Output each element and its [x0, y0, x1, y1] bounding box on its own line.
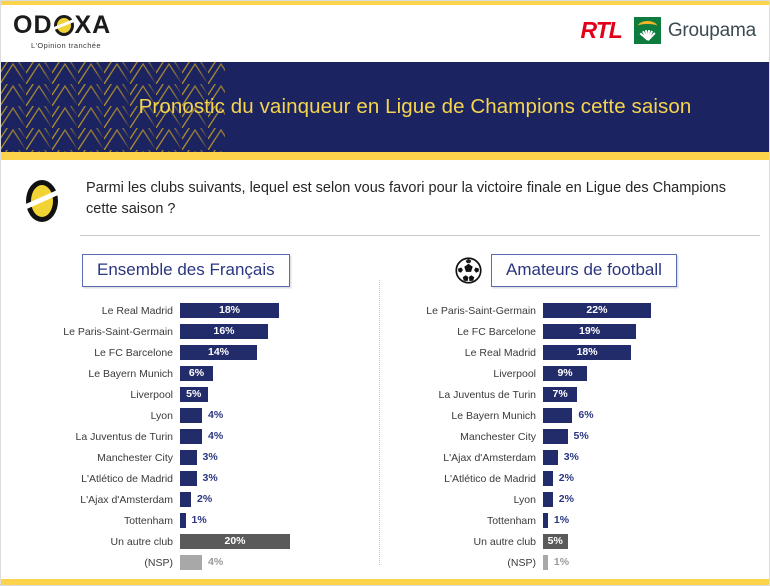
bar-category-label: Lyon — [0, 410, 180, 422]
bar-value-label: 7% — [543, 387, 577, 402]
groupama-mark-icon — [634, 17, 661, 44]
odoxa-wordmark: OD XA — [13, 13, 111, 38]
chart-bar-row: Tottenham1% — [381, 510, 770, 531]
bar-track: 3% — [180, 471, 379, 486]
bar-value-label: 18% — [180, 303, 279, 318]
bar-category-label: La Juventus de Turin — [0, 431, 180, 443]
bar-fill — [180, 429, 202, 444]
bar-value-label: 16% — [180, 324, 268, 339]
bar-category-label: Liverpool — [381, 368, 543, 380]
chart-bar-row: Lyon2% — [381, 489, 770, 510]
bar-value-label: 3% — [203, 471, 218, 486]
bar-fill — [543, 492, 553, 507]
bar-fill — [543, 513, 548, 528]
bar-value-label: 2% — [559, 471, 574, 486]
bar-track: 19% — [543, 324, 770, 339]
panel-amateurs-football: Amateurs de football Le Paris-Saint-Germ… — [381, 250, 770, 573]
odoxa-logo: OD XA L'Opinion tranchée — [13, 13, 111, 50]
chart-bar-row: Le Bayern Munich6% — [0, 363, 379, 384]
bar-value-label: 5% — [543, 534, 568, 549]
bar-fill — [543, 429, 568, 444]
bar-category-label: Le FC Barcelone — [0, 347, 180, 359]
chart-bar-row: Liverpool5% — [0, 384, 379, 405]
bar-track: 5% — [543, 429, 770, 444]
bar-track: 16% — [180, 324, 379, 339]
bar-track: 1% — [543, 513, 770, 528]
chart-bar-row: L'Atlético de Madrid3% — [0, 468, 379, 489]
bar-category-label: Liverpool — [0, 389, 180, 401]
bar-track: 18% — [543, 345, 770, 360]
bar-fill — [543, 408, 572, 423]
bar-category-label: Un autre club — [0, 536, 180, 548]
bar-track: 1% — [543, 555, 770, 570]
bar-fill — [543, 471, 553, 486]
chart-bar-row: (NSP)4% — [0, 552, 379, 573]
bar-value-label: 18% — [543, 345, 631, 360]
bar-value-label: 4% — [208, 429, 223, 444]
bar-fill — [180, 513, 186, 528]
bottom-gold-strip — [0, 579, 770, 586]
chart-bar-row: Le Real Madrid18% — [381, 342, 770, 363]
bar-fill — [180, 471, 197, 486]
banner-gold-strip — [0, 152, 770, 160]
groupama-label: Groupama — [668, 20, 756, 42]
bar-category-label: Manchester City — [0, 452, 180, 464]
bar-value-label: 2% — [197, 492, 212, 507]
bar-value-label: 4% — [208, 408, 223, 423]
chart-right-rows: Le Paris-Saint-Germain22%Le FC Barcelone… — [381, 300, 770, 573]
bar-category-label: L'Ajax d'Amsterdam — [0, 494, 180, 506]
panel-left-header: Ensemble des Français — [0, 250, 379, 290]
bar-value-label: 22% — [543, 303, 651, 318]
question-row: Parmi les clubs suivants, lequel est sel… — [0, 178, 770, 236]
panel-right-header: Amateurs de football — [381, 250, 770, 290]
partner-logos: RTL Groupama — [581, 17, 756, 44]
bar-category-label: Tottenham — [381, 515, 543, 527]
bar-track: 1% — [180, 513, 379, 528]
bar-category-label: (NSP) — [381, 557, 543, 569]
bar-category-label: La Juventus de Turin — [381, 389, 543, 401]
bar-category-label: Manchester City — [381, 431, 543, 443]
bar-category-label: L'Atlético de Madrid — [0, 473, 180, 485]
odoxa-o-mark-icon — [54, 15, 74, 36]
odoxa-tagline: L'Opinion tranchée — [31, 41, 101, 50]
bar-value-label: 5% — [574, 429, 589, 444]
bar-fill — [180, 492, 191, 507]
bar-track: 4% — [180, 408, 379, 423]
bar-value-label: 6% — [180, 366, 213, 381]
bar-value-label: 1% — [554, 555, 569, 570]
bar-track: 5% — [180, 387, 379, 402]
odoxa-logo-text-right: XA — [75, 13, 112, 38]
bar-fill — [543, 450, 558, 465]
bar-category-label: Un autre club — [381, 536, 543, 548]
chart-bar-row: La Juventus de Turin4% — [0, 426, 379, 447]
chart-bar-row: Le Real Madrid18% — [0, 300, 379, 321]
bar-fill — [180, 555, 202, 570]
banner-title: Pronostic du vainqueur en Ligue de Champ… — [0, 62, 770, 152]
bar-track: 3% — [180, 450, 379, 465]
bar-category-label: Le Bayern Munich — [381, 410, 543, 422]
bar-fill — [543, 555, 548, 570]
panel-divider — [379, 280, 380, 565]
bar-value-label: 6% — [578, 408, 593, 423]
chart-bar-row: L'Atlético de Madrid2% — [381, 468, 770, 489]
bar-value-label: 20% — [180, 534, 290, 549]
chart-bar-row: Le Bayern Munich6% — [381, 405, 770, 426]
chart-bar-row: Le FC Barcelone14% — [0, 342, 379, 363]
bar-value-label: 19% — [543, 324, 636, 339]
bar-category-label: Lyon — [381, 494, 543, 506]
bar-category-label: Le Real Madrid — [381, 347, 543, 359]
bar-value-label: 5% — [180, 387, 208, 402]
panel-left-title: Ensemble des Français — [82, 254, 290, 287]
bar-track: 2% — [543, 492, 770, 507]
chart-bar-row: Un autre club20% — [0, 531, 379, 552]
odoxa-logo-text-left: OD — [13, 13, 53, 38]
poll-infographic-page: OD XA L'Opinion tranchée RTL — [0, 0, 770, 586]
bar-track: 22% — [543, 303, 770, 318]
chart-bar-row: Liverpool9% — [381, 363, 770, 384]
chart-bar-row: L'Ajax d'Amsterdam2% — [0, 489, 379, 510]
header-bar: OD XA L'Opinion tranchée RTL — [0, 5, 770, 58]
groupama-logo: Groupama — [634, 17, 756, 44]
question-divider — [80, 235, 760, 236]
chart-bar-row: Lyon4% — [0, 405, 379, 426]
bar-value-label: 2% — [559, 492, 574, 507]
title-banner: Pronostic du vainqueur en Ligue de Champ… — [0, 62, 770, 152]
question-text: Parmi les clubs suivants, lequel est sel… — [86, 178, 746, 220]
bar-track: 6% — [180, 366, 379, 381]
bar-value-label: 3% — [203, 450, 218, 465]
chart-bar-row: Manchester City5% — [381, 426, 770, 447]
bar-track: 20% — [180, 534, 379, 549]
chart-bar-row: (NSP)1% — [381, 552, 770, 573]
rtl-logo: RTL — [581, 17, 622, 44]
bar-category-label: L'Ajax d'Amsterdam — [381, 452, 543, 464]
bar-track: 14% — [180, 345, 379, 360]
chart-bar-row: Le Paris-Saint-Germain16% — [0, 321, 379, 342]
bar-category-label: Le Bayern Munich — [0, 368, 180, 380]
bar-track: 4% — [180, 429, 379, 444]
chart-bar-row: Un autre club5% — [381, 531, 770, 552]
bar-value-label: 14% — [180, 345, 257, 360]
chart-bar-row: La Juventus de Turin7% — [381, 384, 770, 405]
bar-track: 18% — [180, 303, 379, 318]
bar-category-label: Le Paris-Saint-Germain — [381, 305, 543, 317]
bar-category-label: Tottenham — [0, 515, 180, 527]
bar-category-label: (NSP) — [0, 557, 180, 569]
panel-ensemble-francais: Ensemble des Français Le Real Madrid18%L… — [0, 250, 379, 573]
bar-category-label: Le Real Madrid — [0, 305, 180, 317]
bar-track: 3% — [543, 450, 770, 465]
bar-value-label: 1% — [554, 513, 569, 528]
bar-category-label: Le Paris-Saint-Germain — [0, 326, 180, 338]
soccer-ball-icon — [455, 257, 482, 284]
bar-fill — [180, 408, 202, 423]
bar-category-label: L'Atlético de Madrid — [381, 473, 543, 485]
bar-fill — [180, 450, 197, 465]
bar-category-label: Le FC Barcelone — [381, 326, 543, 338]
bar-value-label: 9% — [543, 366, 587, 381]
bar-track: 7% — [543, 387, 770, 402]
bar-value-label: 3% — [564, 450, 579, 465]
bar-track: 6% — [543, 408, 770, 423]
bar-track: 2% — [543, 471, 770, 486]
chart-bar-row: Tottenham1% — [0, 510, 379, 531]
bar-track: 4% — [180, 555, 379, 570]
odoxa-bullet-icon — [26, 180, 58, 222]
bar-track: 2% — [180, 492, 379, 507]
chart-bar-row: Manchester City3% — [0, 447, 379, 468]
bar-track: 9% — [543, 366, 770, 381]
bar-value-label: 4% — [208, 555, 223, 570]
panel-right-title: Amateurs de football — [491, 254, 677, 287]
bar-track: 5% — [543, 534, 770, 549]
chart-left-rows: Le Real Madrid18%Le Paris-Saint-Germain1… — [0, 300, 379, 573]
bar-value-label: 1% — [192, 513, 207, 528]
chart-bar-row: Le Paris-Saint-Germain22% — [381, 300, 770, 321]
chart-bar-row: L'Ajax d'Amsterdam3% — [381, 447, 770, 468]
chart-bar-row: Le FC Barcelone19% — [381, 321, 770, 342]
